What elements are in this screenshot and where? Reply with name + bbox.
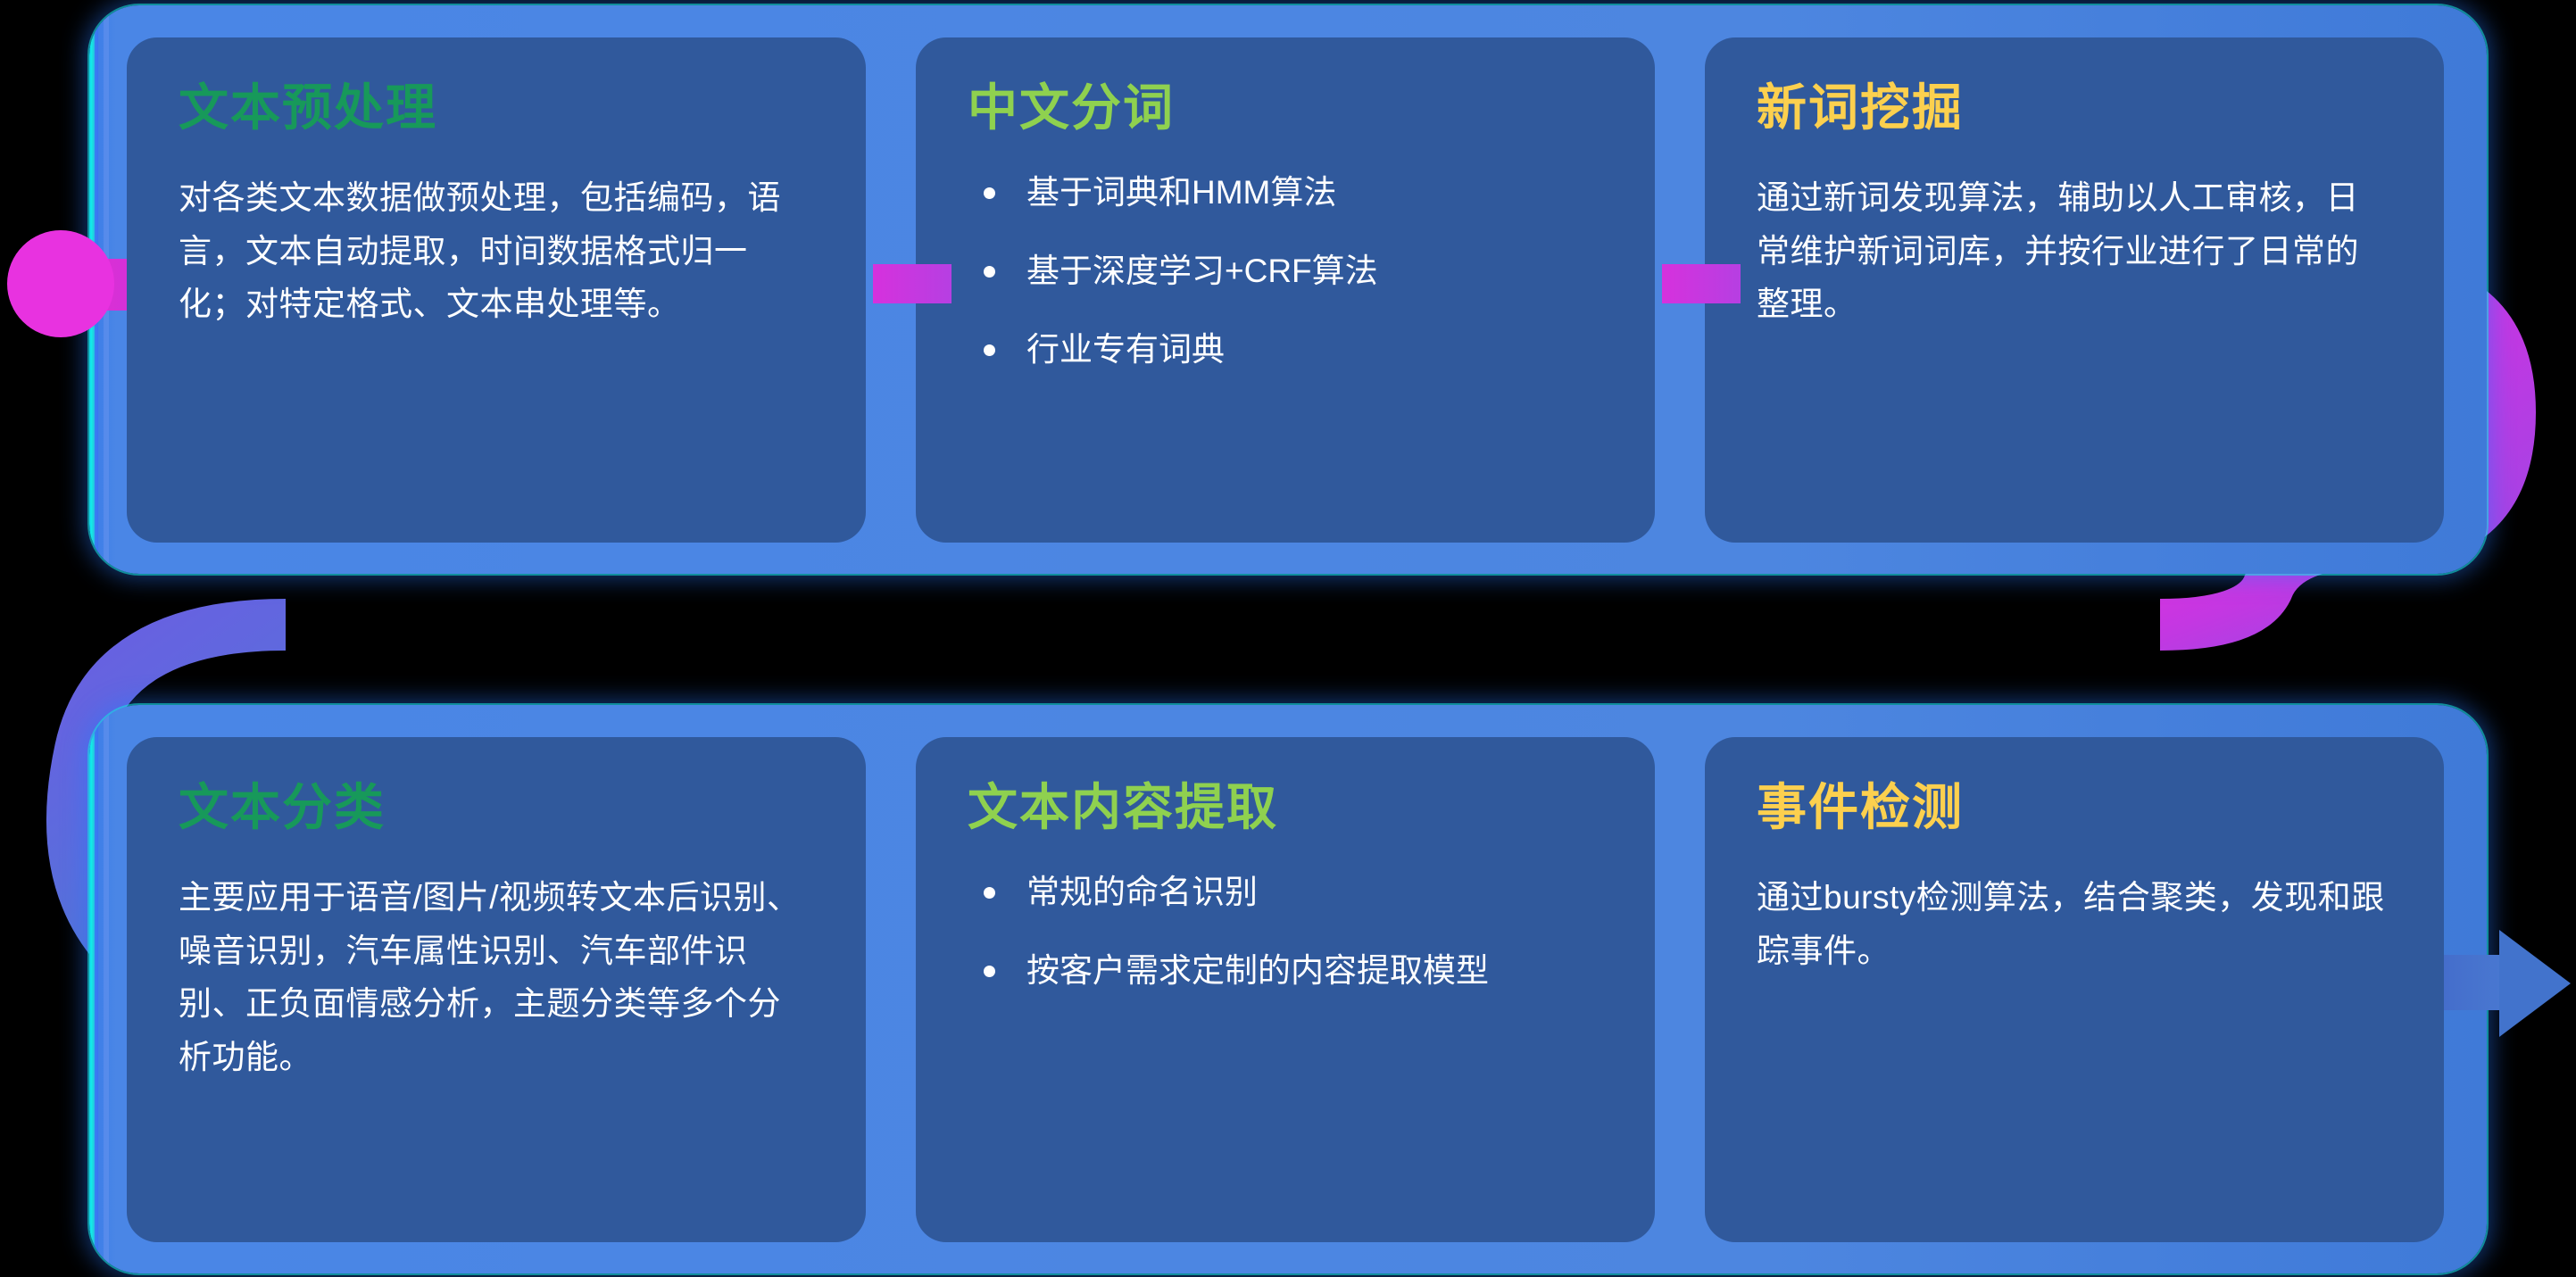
card-paragraph: 对各类文本数据做预处理，包括编码，语言，文本自动提取，时间数据格式归一化；对特定… <box>179 171 814 332</box>
card-title: 文本预处理 <box>179 80 814 136</box>
list-item: 按客户需求定制的内容提取模型 <box>968 949 1603 992</box>
list-item: 基于深度学习+CRF算法 <box>968 250 1603 293</box>
card-title: 文本分类 <box>179 780 814 835</box>
card-text-content-extraction[interactable]: 文本内容提取 常规的命名识别 按客户需求定制的内容提取模型 <box>916 737 1655 1242</box>
card-text-preprocessing[interactable]: 文本预处理 对各类文本数据做预处理，包括编码，语言，文本自动提取，时间数据格式归… <box>127 37 866 543</box>
card-title: 文本内容提取 <box>968 780 1603 835</box>
card-title: 新词挖掘 <box>1757 80 2392 136</box>
list-item: 基于词典和HMM算法 <box>968 171 1603 214</box>
list-item: 常规的命名识别 <box>968 871 1603 914</box>
connector-bar-1-2 <box>873 264 951 303</box>
card-title: 事件检测 <box>1757 780 2392 835</box>
card-paragraph: 通过bursty检测算法，结合聚类，发现和跟踪事件。 <box>1757 871 2392 978</box>
card-new-word-discovery[interactable]: 新词挖掘 通过新词发现算法，辅助以人工审核，日常维护新词词库，并按行业进行了日常… <box>1705 37 2444 543</box>
card-paragraph: 通过新词发现算法，辅助以人工审核，日常维护新词词库，并按行业进行了日常的整理。 <box>1757 171 2392 332</box>
card-chinese-word-segmentation[interactable]: 中文分词 基于词典和HMM算法 基于深度学习+CRF算法 行业专有词典 <box>916 37 1655 543</box>
flow-start-dot <box>7 230 114 337</box>
card-bullet-list: 基于词典和HMM算法 基于深度学习+CRF算法 行业专有词典 <box>968 171 1603 371</box>
card-event-detection[interactable]: 事件检测 通过bursty检测算法，结合聚类，发现和跟踪事件。 <box>1705 737 2444 1242</box>
connector-bar-2-3 <box>1662 264 1741 303</box>
card-paragraph: 主要应用于语音/图片/视频转文本后识别、噪音识别，汽车属性识别、汽车部件识别、正… <box>179 871 814 1085</box>
diagram-canvas: 文本预处理 对各类文本数据做预处理，包括编码，语言，文本自动提取，时间数据格式归… <box>0 0 2576 1277</box>
arrow-right-icon <box>2499 930 2571 1037</box>
list-item: 行业专有词典 <box>968 328 1603 371</box>
card-bullet-list: 常规的命名识别 按客户需求定制的内容提取模型 <box>968 871 1603 992</box>
card-text-classification[interactable]: 文本分类 主要应用于语音/图片/视频转文本后识别、噪音识别，汽车属性识别、汽车部… <box>127 737 866 1242</box>
card-title: 中文分词 <box>968 80 1603 136</box>
